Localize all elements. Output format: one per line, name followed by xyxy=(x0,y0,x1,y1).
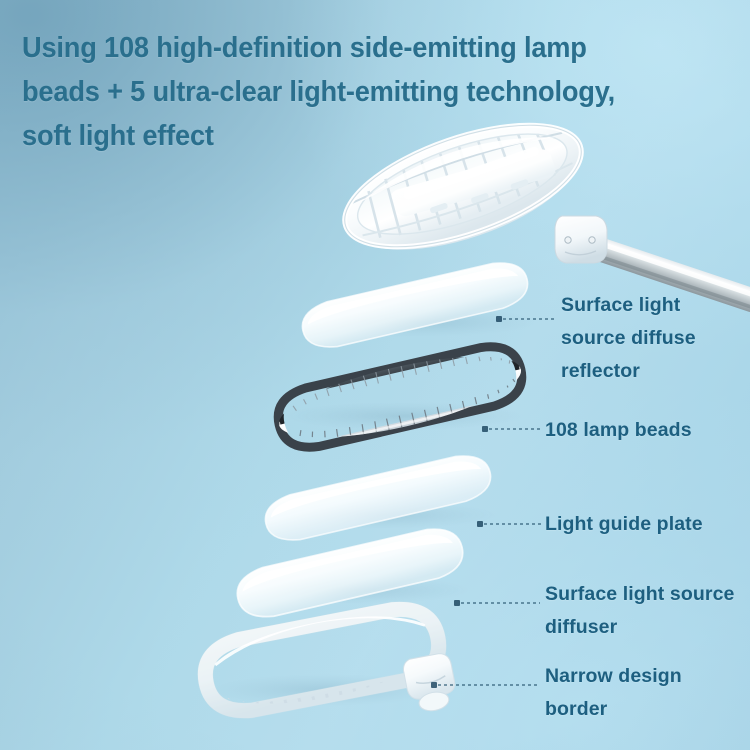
narrow-design-border-frame xyxy=(199,598,460,750)
callout-label-light-guide-plate: Light guide plate xyxy=(545,508,703,541)
leader-line-narrow-border xyxy=(432,684,540,686)
infographic-canvas: Using 108 high-definition side-emitting … xyxy=(0,0,750,750)
callout-label-diffuse-reflector: Surface light source diffuse reflector xyxy=(561,289,696,388)
page-title: Using 108 high-definition side-emitting … xyxy=(22,26,700,158)
leader-line-diffuse-reflector xyxy=(497,318,557,320)
leader-line-diffuser xyxy=(455,602,540,604)
hinge-joint xyxy=(555,216,607,263)
leader-line-light-guide-plate xyxy=(478,523,541,525)
led-bead-strip xyxy=(272,340,527,454)
diffuser-sheet xyxy=(232,523,467,623)
callout-label-lamp-beads: 108 lamp beads xyxy=(545,414,692,447)
callout-label-diffuser: Surface light source diffuser xyxy=(545,578,734,644)
light-guide-plate xyxy=(261,450,495,547)
leader-line-lamp-beads xyxy=(483,428,541,430)
callout-label-narrow-border: Narrow design border xyxy=(545,660,682,726)
diffuse-reflector-sheet xyxy=(298,257,532,354)
